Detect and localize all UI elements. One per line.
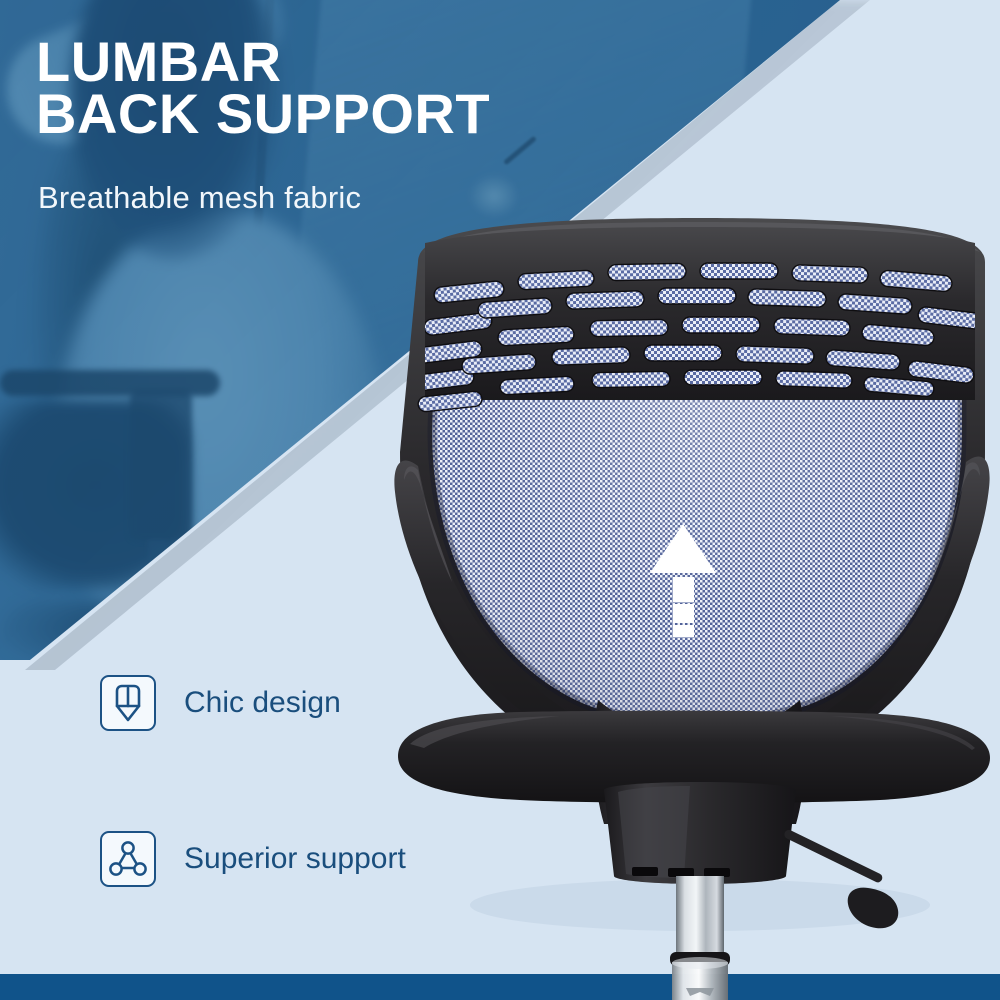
marketing-banner: LUMBAR BACK SUPPORT Breathable mesh fabr…: [0, 0, 1000, 1000]
pencil-icon-box: [100, 675, 156, 731]
headline-line-2: BACK SUPPORT: [36, 88, 676, 140]
mechanism-housing-highlight: [618, 786, 690, 878]
seat-assembly: [398, 711, 990, 1000]
pencil-icon: [111, 684, 145, 722]
triangle-nodes-icon: [109, 841, 147, 877]
feature-item-superior-support: Superior support: [100, 824, 406, 894]
page-title: LUMBAR BACK SUPPORT: [36, 36, 676, 140]
mechanism-vent-slots: [632, 867, 730, 877]
subtitle: Breathable mesh fabric: [38, 180, 361, 216]
feature-label-chic-design: Chic design: [184, 686, 341, 720]
feature-list: Chic design Superior support: [100, 668, 406, 980]
feature-label-superior-support: Superior support: [184, 842, 406, 876]
feature-item-chic-design: Chic design: [100, 668, 406, 738]
triangle-nodes-icon-box: [100, 831, 156, 887]
